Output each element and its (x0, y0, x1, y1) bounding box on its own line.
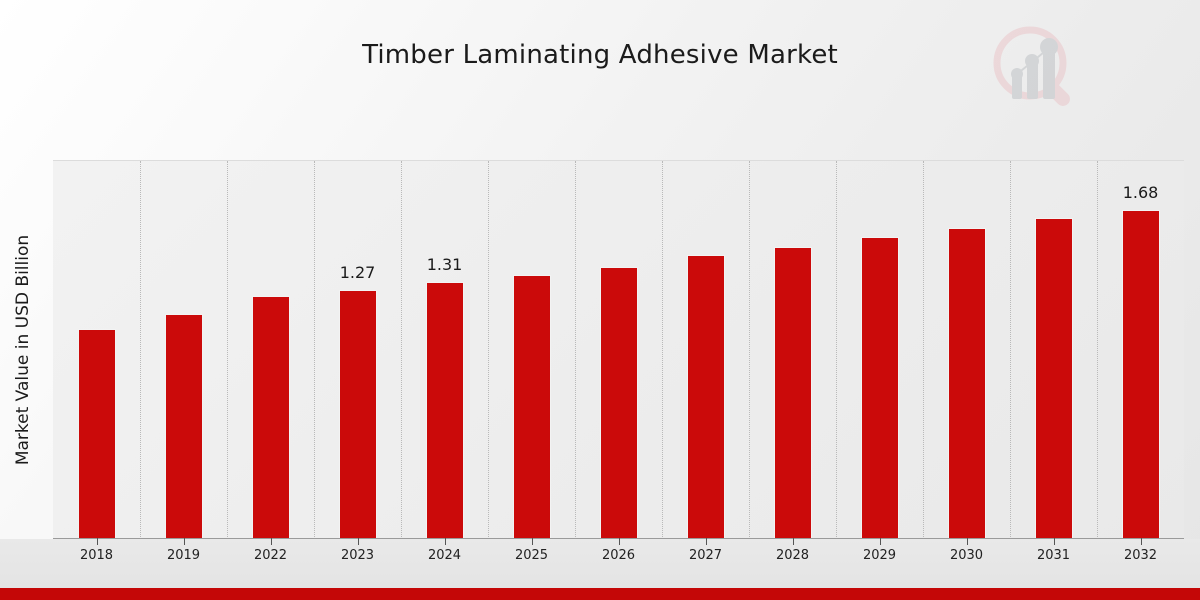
x-tick-label-2026: 2026 (579, 548, 659, 563)
bar-2022 (252, 296, 290, 539)
bar-2029 (861, 237, 899, 539)
chart-screenshot: Timber Laminating Adhesive Market Market… (0, 0, 1200, 600)
x-tick (706, 538, 707, 545)
x-tick-label-2024: 2024 (405, 548, 485, 563)
gridline (749, 161, 751, 539)
bar-value-label-2023: 1.27 (318, 263, 398, 282)
x-tick-label-2018: 2018 (57, 548, 137, 563)
y-axis-label: Market Value in USD Billion (8, 160, 38, 540)
gridline (140, 161, 142, 539)
x-tick-label-2031: 2031 (1014, 548, 1094, 563)
x-tick (358, 538, 359, 545)
gridline (575, 161, 577, 539)
gridline (401, 161, 403, 539)
x-tick (184, 538, 185, 545)
bar-2030 (948, 228, 986, 539)
gridline (1010, 161, 1012, 539)
x-tick-label-2025: 2025 (492, 548, 572, 563)
bar-2024 (426, 282, 464, 539)
x-tick (532, 538, 533, 545)
x-tick-label-2028: 2028 (753, 548, 833, 563)
x-tick (619, 538, 620, 545)
bar-2019 (165, 314, 203, 539)
x-tick (97, 538, 98, 545)
x-axis-band (0, 539, 1200, 588)
x-tick-label-2030: 2030 (927, 548, 1007, 563)
market-research-magnifier-logo (985, 18, 1085, 118)
x-tick-label-2019: 2019 (144, 548, 224, 563)
plot-area (53, 160, 1184, 539)
x-tick (445, 538, 446, 545)
x-tick (880, 538, 881, 545)
bar-2026 (600, 267, 638, 539)
x-tick (1054, 538, 1055, 545)
bar-value-label-2032: 1.68 (1101, 183, 1181, 202)
gridline (488, 161, 490, 539)
x-tick (967, 538, 968, 545)
bar-2028 (774, 247, 812, 539)
gridline (1097, 161, 1099, 539)
x-tick-label-2032: 2032 (1101, 548, 1181, 563)
bar-value-label-2024: 1.31 (405, 255, 485, 274)
bar-2031 (1035, 218, 1073, 539)
gridline (314, 161, 316, 539)
gridline (836, 161, 838, 539)
bottom-accent-strip (0, 588, 1200, 600)
bar-2032 (1122, 210, 1160, 539)
bar-2018 (78, 329, 116, 539)
x-tick (793, 538, 794, 545)
bar-2025 (513, 275, 551, 539)
bar-2027 (687, 255, 725, 539)
x-tick-label-2023: 2023 (318, 548, 398, 563)
x-tick-label-2022: 2022 (231, 548, 311, 563)
gridline (227, 161, 229, 539)
gridline (923, 161, 925, 539)
x-tick-label-2029: 2029 (840, 548, 920, 563)
x-tick (1141, 538, 1142, 545)
bar-2023 (339, 290, 377, 539)
x-tick-label-2027: 2027 (666, 548, 746, 563)
x-tick (271, 538, 272, 545)
gridline (662, 161, 664, 539)
